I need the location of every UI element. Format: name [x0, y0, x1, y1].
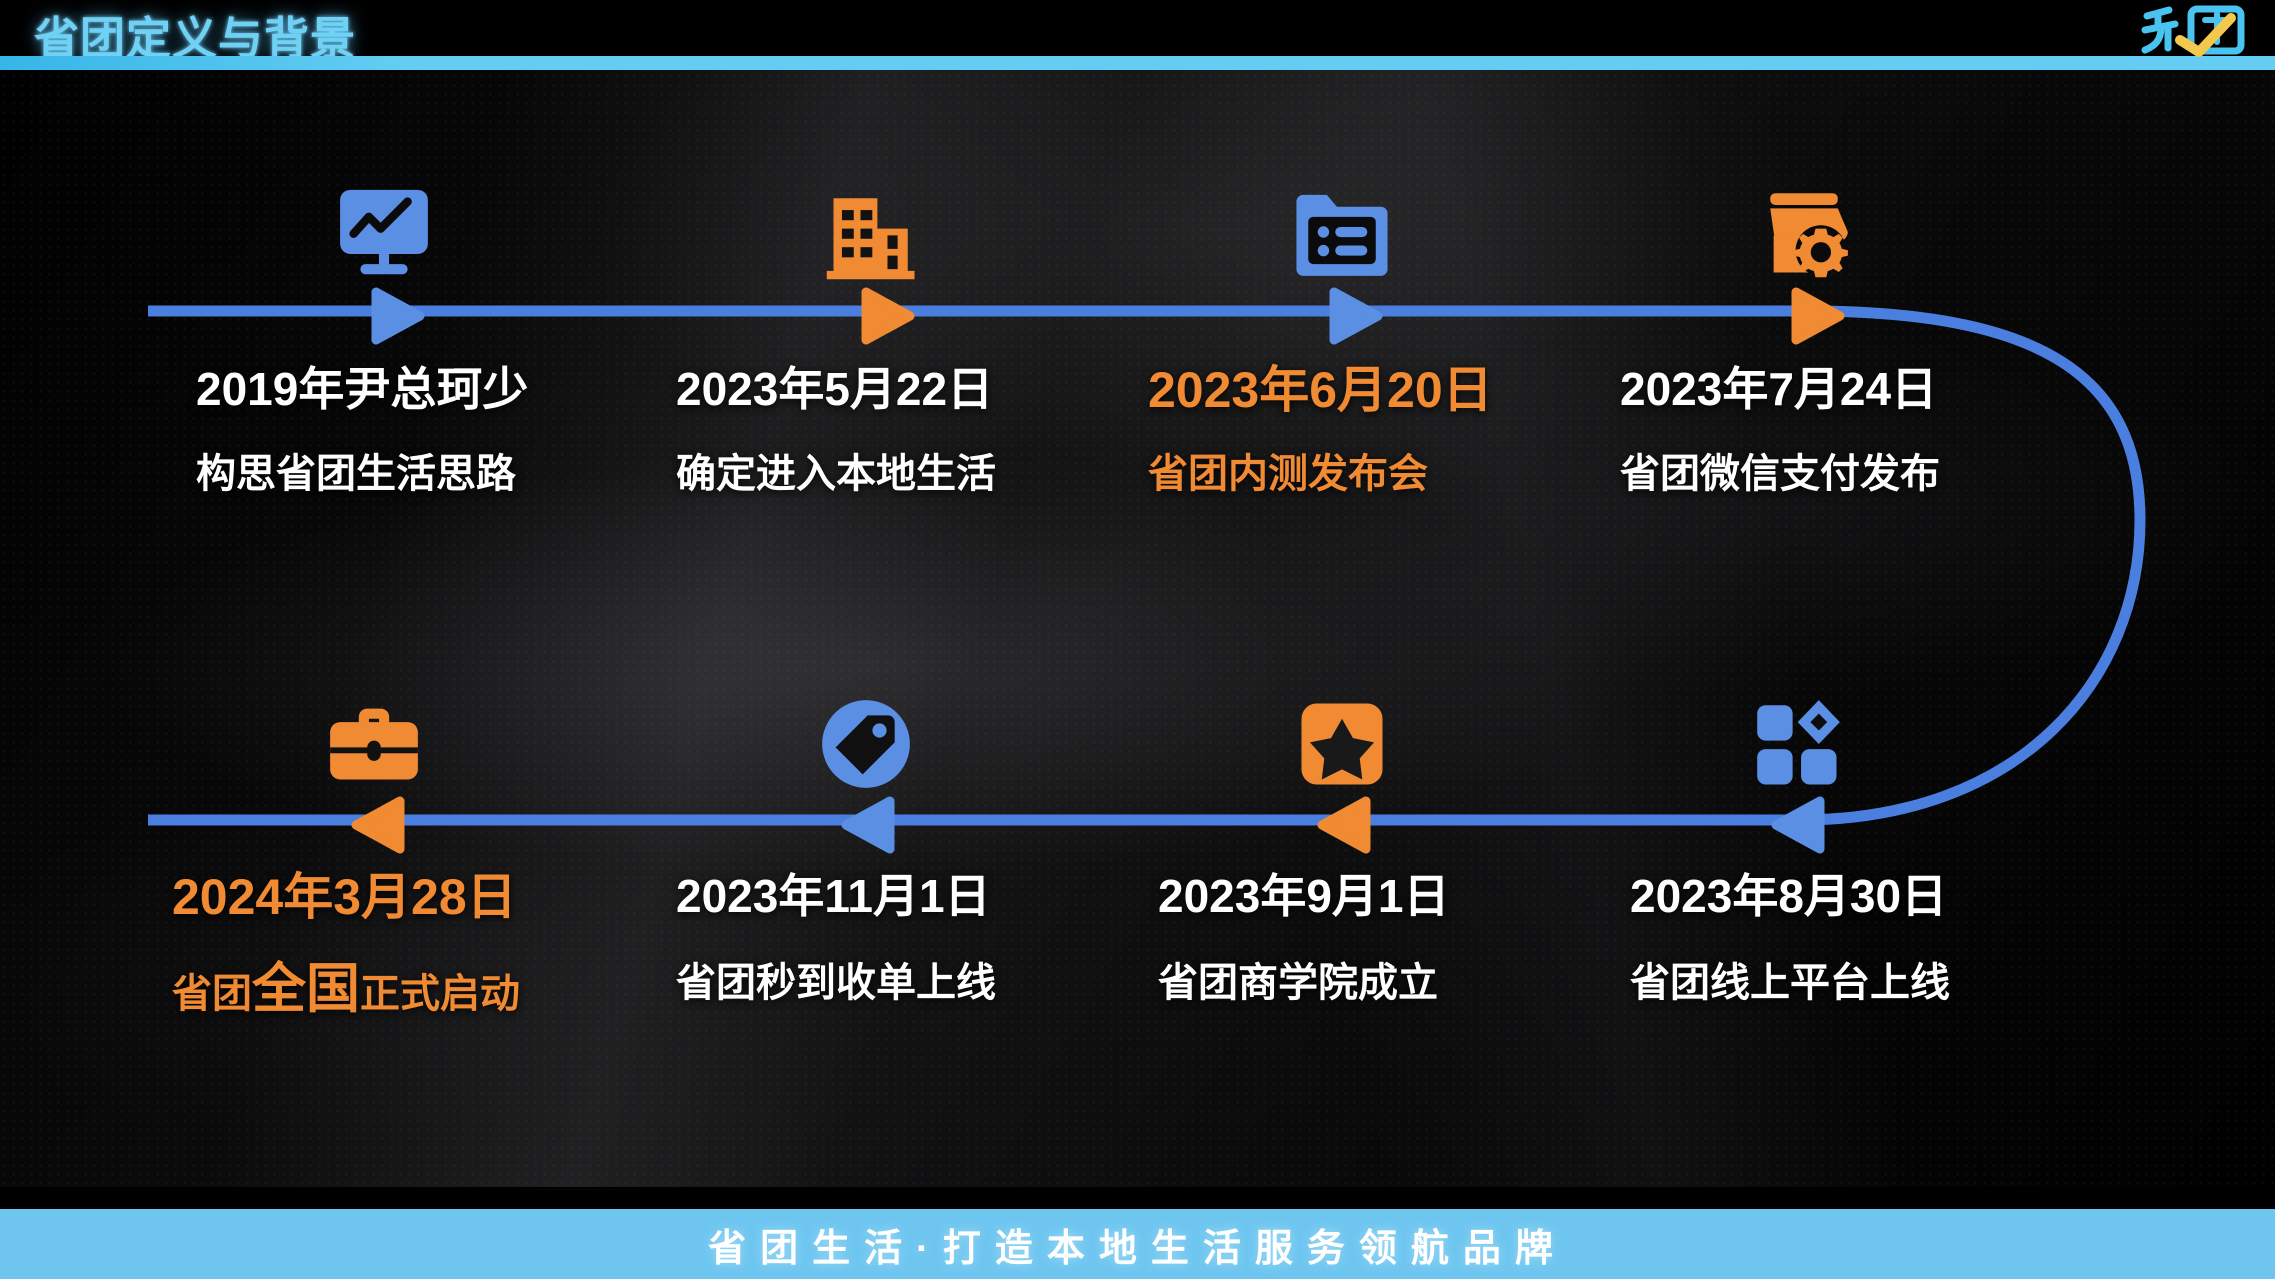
triangle-right-icon [1326, 287, 1386, 350]
briefcase-icon [320, 690, 428, 803]
footer-spacer [0, 1187, 2275, 1209]
office-building-icon [820, 178, 928, 291]
slide-header: 省团定义与背景 [0, 0, 2275, 62]
timeline-description: 确定进入本地生活 [676, 441, 996, 499]
apps-grid-icon [1742, 690, 1850, 803]
timeline-description-part-3: 正式启动 [360, 972, 520, 1016]
timeline-date: 2023年8月30日 [1630, 860, 1947, 926]
timeline-date: 2023年11月1日 [676, 860, 991, 926]
monitor-chart-icon [330, 178, 438, 291]
star-badge-icon [1288, 690, 1396, 803]
price-tag-circle-icon [812, 690, 920, 803]
timeline-date: 2019年尹总珂少 [196, 353, 528, 419]
header-accent-rule [0, 56, 2275, 70]
timeline-description-emphasis: 全国 [252, 959, 360, 1019]
triangle-left-icon [1314, 796, 1374, 859]
timeline-description: 省团商学院成立 [1158, 950, 1438, 1008]
store-gear-icon [1750, 178, 1858, 291]
timeline-description: 构思省团生活思路 [196, 441, 516, 499]
timeline-description: 省团秒到收单上线 [676, 950, 996, 1008]
timeline-description: 省团内测发布会 [1148, 441, 1428, 499]
triangle-right-icon [368, 287, 428, 350]
folder-list-icon [1288, 178, 1396, 291]
timeline-stage: 2019年尹总珂少 构思省团生活思路 2023年5月22日 确定进入本地生活 [0, 0, 2275, 1279]
shengtuan-logo-icon [2135, 0, 2257, 58]
timeline-date: 2023年6月20日 [1148, 350, 1493, 422]
timeline-date: 2024年3月28日 [172, 857, 517, 929]
timeline-description: 省团线上平台上线 [1630, 950, 1950, 1008]
timeline-date: 2023年9月1日 [1158, 860, 1450, 926]
timeline-description: 省团微信支付发布 [1620, 441, 1940, 499]
triangle-right-icon [1788, 287, 1848, 350]
timeline-date: 2023年7月24日 [1620, 353, 1937, 419]
triangle-right-icon [858, 287, 918, 350]
triangle-left-icon [348, 796, 408, 859]
footer-slogan: 省团生活·打造本地生活服务领航品牌 [708, 1217, 1567, 1272]
triangle-left-icon [1768, 796, 1828, 859]
slide-footer: 省团生活·打造本地生活服务领航品牌 [0, 1209, 2275, 1279]
timeline-description-part-1: 省团 [172, 972, 252, 1016]
header-accent-rule-inner [415, 56, 2275, 70]
timeline-date: 2023年5月22日 [676, 353, 993, 419]
triangle-left-icon [838, 796, 898, 859]
timeline-description: 省团全国正式启动 [172, 944, 520, 1023]
